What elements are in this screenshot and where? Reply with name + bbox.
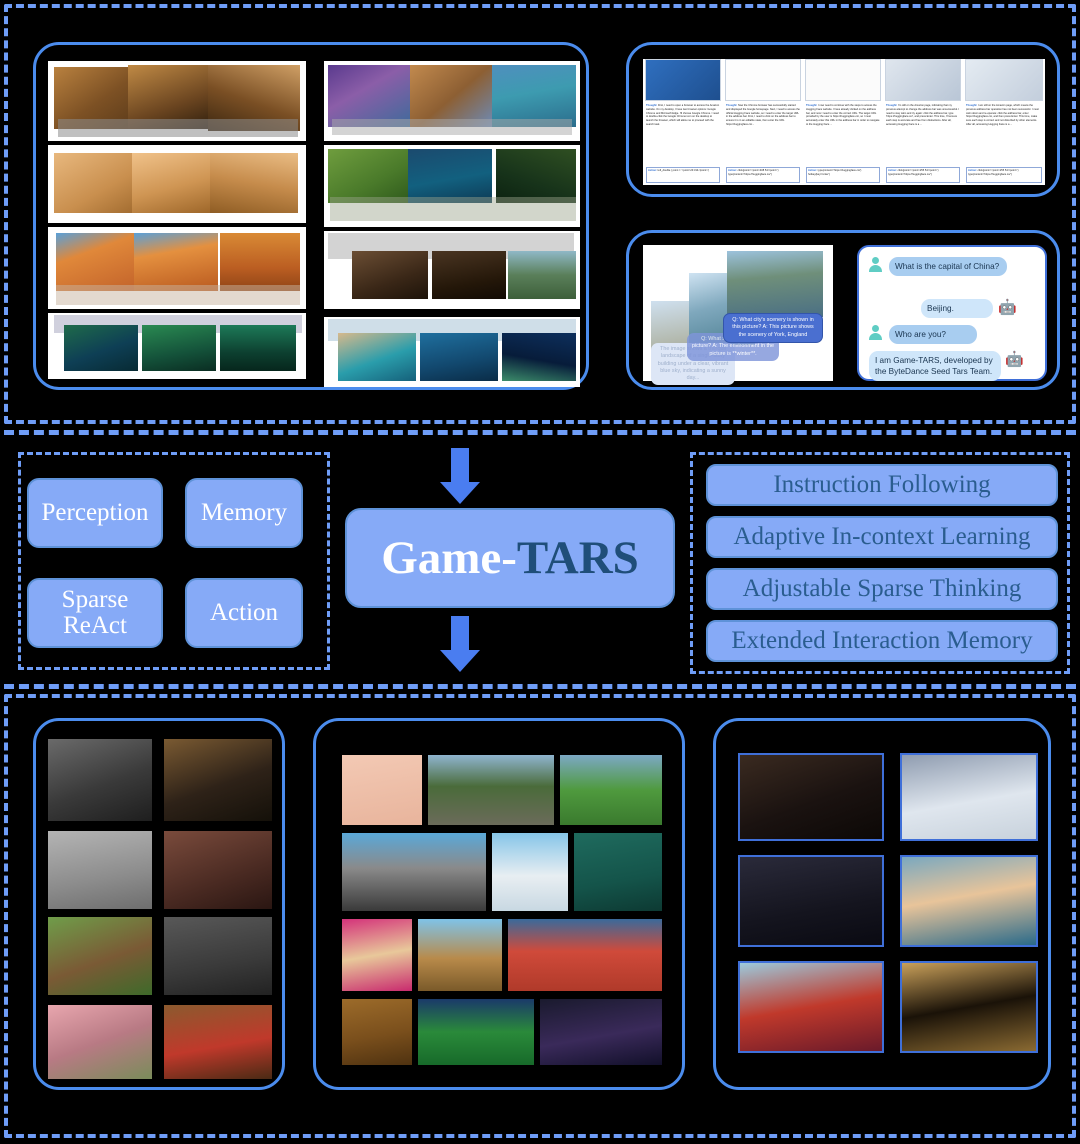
- game-screenshot: [220, 233, 300, 291]
- game-screenshot: [432, 251, 506, 299]
- step-action: Action: click{point='<point>255 54</poin…: [886, 167, 960, 183]
- action-label: Action:: [648, 169, 657, 172]
- core-name-prefix: Game-: [381, 531, 517, 585]
- game-tile: [164, 739, 272, 821]
- casual-games-panel: [313, 718, 685, 1090]
- game-strip-card: [324, 317, 580, 387]
- chat-message-bot: Beijing. 🤖: [921, 299, 1014, 318]
- step-thought: Thought: I'm still on the Amazon page, i…: [886, 104, 960, 166]
- chat-bubble-text: Beijing.: [921, 299, 993, 318]
- action-label: Action:: [968, 169, 977, 172]
- game-tile: [560, 755, 662, 825]
- thought-label: Thought:: [646, 104, 657, 107]
- game-tile: [738, 855, 884, 947]
- figure-root: Thought: First, I need to open a browser…: [0, 0, 1080, 1144]
- game-screenshot: [420, 333, 498, 381]
- step-thumbnail: [965, 59, 1043, 101]
- game-strip-card: [48, 61, 306, 141]
- game-tile: [508, 919, 662, 991]
- game-tile: [164, 917, 272, 995]
- module-label: Memory: [201, 500, 287, 526]
- fps-games-panel: [33, 718, 285, 1090]
- trajectory-step: Thought: I now need to continue with the…: [805, 59, 881, 185]
- game-tile: [418, 999, 534, 1065]
- hud-overlay: [330, 197, 576, 221]
- game-tile: [48, 1005, 152, 1079]
- core-model-box[interactable]: Game-TARS: [345, 508, 675, 608]
- module-perception[interactable]: Perception: [27, 478, 163, 548]
- game-screenshot: [328, 149, 408, 203]
- capability-label: Adaptive In-context Learning: [733, 523, 1030, 551]
- capability-instruction-following[interactable]: Instruction Following: [706, 464, 1058, 506]
- game-screenshot: [64, 325, 138, 371]
- module-sparse-react[interactable]: Sparse ReAct: [27, 578, 163, 648]
- game-tile: [418, 919, 502, 991]
- capability-adaptive-in-context-learning[interactable]: Adaptive In-context Learning: [706, 516, 1058, 558]
- step-thumbnail: [885, 59, 961, 101]
- step-thought: Thought: I am still on the Amazon page, …: [966, 104, 1042, 166]
- game-screenshot: [408, 149, 492, 203]
- game-tile: [48, 739, 152, 821]
- step-thumbnail: [805, 59, 881, 101]
- game-tile: [342, 999, 412, 1065]
- step-thumbnail: [725, 59, 801, 101]
- game-tile: [48, 917, 152, 995]
- step-action: Action: left_double ( point = '<point>29…: [646, 167, 720, 183]
- robot-icon: 🤖: [998, 299, 1014, 317]
- vqa-image: [727, 251, 823, 317]
- game-screenshot: [142, 325, 216, 371]
- arrow-down-icon: [440, 448, 480, 504]
- web-trajectory-panel: Thought: First, I need to open a browser…: [626, 42, 1060, 197]
- chat-bubble-text: What is the capital of China?: [889, 257, 1007, 276]
- game-tile: [900, 753, 1038, 841]
- step-thought: Thought: Now the Chrome browser has succ…: [726, 104, 800, 166]
- game-screenshot: [328, 65, 416, 127]
- capability-extended-interaction-memory[interactable]: Extended Interaction Memory: [706, 620, 1058, 662]
- capability-label: Adjustable Sparse Thinking: [743, 575, 1022, 603]
- arrow-down-icon: [440, 616, 480, 672]
- thought-label: Thought:: [886, 104, 897, 107]
- game-tile: [164, 831, 272, 909]
- section-divider: [4, 684, 1076, 689]
- game-tile: [342, 755, 422, 825]
- game-screenshot: [502, 333, 576, 381]
- game-tile: [540, 999, 662, 1065]
- user-avatar-icon: [869, 325, 882, 340]
- step-thought: Thought: First, I need to open a browser…: [646, 104, 720, 166]
- chat-bubble-text: Who are you?: [889, 325, 977, 344]
- game-strip-card: [324, 231, 580, 309]
- action-label: Action:: [808, 169, 817, 172]
- game-tile: [428, 755, 554, 825]
- game-strip-card: [48, 313, 306, 379]
- hud-overlay: [332, 119, 572, 135]
- user-avatar-icon: [869, 257, 882, 272]
- game-screenshot: [496, 149, 576, 203]
- step-action: Action: click{point='<point>408 54</poin…: [726, 167, 800, 183]
- trajectory-step: Thought: I'm still on the Amazon page, i…: [885, 59, 961, 185]
- module-label: Action: [210, 600, 278, 626]
- game-strip-card: [324, 145, 580, 227]
- game-strip-card: [48, 227, 306, 309]
- module-label: Perception: [42, 500, 149, 526]
- game-screenshot: [132, 153, 216, 213]
- vqa-card: The image shows a tranquil landscape of …: [643, 245, 833, 381]
- thought-label: Thought:: [726, 104, 737, 107]
- game-screenshot: [492, 65, 576, 127]
- chat-card: What is the capital of China? Beijing. 🤖…: [857, 245, 1047, 381]
- game-screenshot: [410, 65, 498, 127]
- game-strip-card: [324, 61, 580, 141]
- step-action: Action: type{content='https://huggingfac…: [806, 167, 880, 183]
- game-screenshot: [134, 233, 218, 291]
- game-tile: [738, 961, 884, 1053]
- game-screenshot: [352, 251, 428, 299]
- game-screenshot: [54, 153, 138, 213]
- step-action: Action: click{point='<point>255 54</poin…: [966, 167, 1042, 183]
- trajectory-step: Thought: Now the Chrome browser has succ…: [725, 59, 801, 185]
- game-tile: [164, 1005, 272, 1079]
- game-screenshot: [210, 153, 298, 213]
- core-name-suffix: TARS: [517, 531, 639, 585]
- game-screenshot: [56, 233, 138, 291]
- chat-message-user: What is the capital of China?: [869, 257, 1007, 276]
- chat-message-bot: I am Game-TARS, developed by the ByteDan…: [869, 351, 1021, 381]
- thought-label: Thought:: [806, 104, 817, 107]
- threed-games-panel: [713, 718, 1051, 1090]
- section-divider: [4, 430, 1076, 435]
- game-screenshot: [508, 251, 576, 299]
- robot-icon: 🤖: [1005, 351, 1021, 369]
- module-action[interactable]: Action: [185, 578, 303, 648]
- game-tile: [900, 855, 1038, 947]
- trajectory-step: Thought: I am still on the Amazon page, …: [965, 59, 1043, 185]
- hud-overlay: [58, 119, 298, 137]
- step-thought: Thought: I now need to continue with the…: [806, 104, 880, 166]
- capability-label: Instruction Following: [773, 471, 990, 499]
- game-tile: [342, 919, 412, 991]
- step-thumbnail: [645, 59, 721, 101]
- hud-overlay: [56, 285, 300, 305]
- game-tile: [342, 833, 486, 911]
- module-memory[interactable]: Memory: [185, 478, 303, 548]
- action-label: Action:: [888, 169, 897, 172]
- game-tile: [900, 961, 1038, 1053]
- game-tile: [574, 833, 662, 911]
- game-collage-panel: [33, 42, 589, 390]
- chat-bubble-text: I am Game-TARS, developed by the ByteDan…: [869, 351, 1001, 381]
- game-tile: [48, 831, 152, 909]
- action-label: Action:: [728, 169, 737, 172]
- game-screenshot: [220, 325, 296, 371]
- game-tile: [738, 753, 884, 841]
- trajectory-card: Thought: First, I need to open a browser…: [643, 59, 1045, 185]
- game-screenshot: [338, 333, 416, 381]
- game-tile: [492, 833, 568, 911]
- thought-label: Thought:: [966, 104, 977, 107]
- game-strip-card: [48, 145, 306, 223]
- capability-label: Extended Interaction Memory: [731, 627, 1032, 655]
- vqa-caption: Q: What city's scenery is shown in this …: [723, 313, 823, 343]
- vqa-chat-panel: The image shows a tranquil landscape of …: [626, 230, 1060, 390]
- module-label: Sparse ReAct: [62, 587, 129, 640]
- capability-adjustable-sparse-thinking[interactable]: Adjustable Sparse Thinking: [706, 568, 1058, 610]
- chat-message-user: Who are you?: [869, 325, 977, 344]
- trajectory-step: Thought: First, I need to open a browser…: [645, 59, 721, 185]
